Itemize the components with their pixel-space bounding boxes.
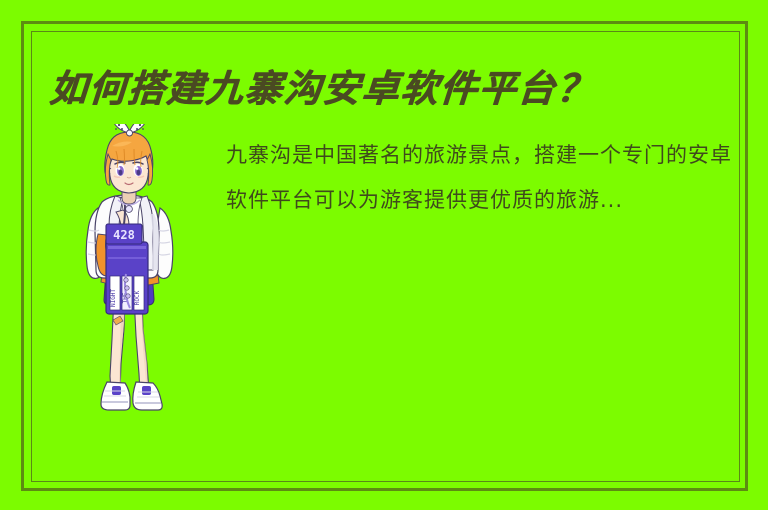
poster-canvas: 如何搭建九寨沟安卓软件平台？ 九寨沟是中国著名的旅游景点，搭建一个专门的安卓软件… <box>0 0 768 510</box>
anime-girl-illustration: NIGHT THE ROCK 428 <box>68 124 190 422</box>
svg-text:ROCK: ROCK <box>134 290 141 305</box>
sneakers <box>101 382 162 410</box>
article-excerpt: 九寨沟是中国著名的旅游景点，搭建一个专门的安卓软件平台可以为游客提供更优质的旅游… <box>226 133 736 223</box>
svg-text:428: 428 <box>113 228 135 242</box>
page-title: 如何搭建九寨沟安卓软件平台？ <box>48 58 712 112</box>
svg-text:NIGHT: NIGHT <box>110 289 117 307</box>
